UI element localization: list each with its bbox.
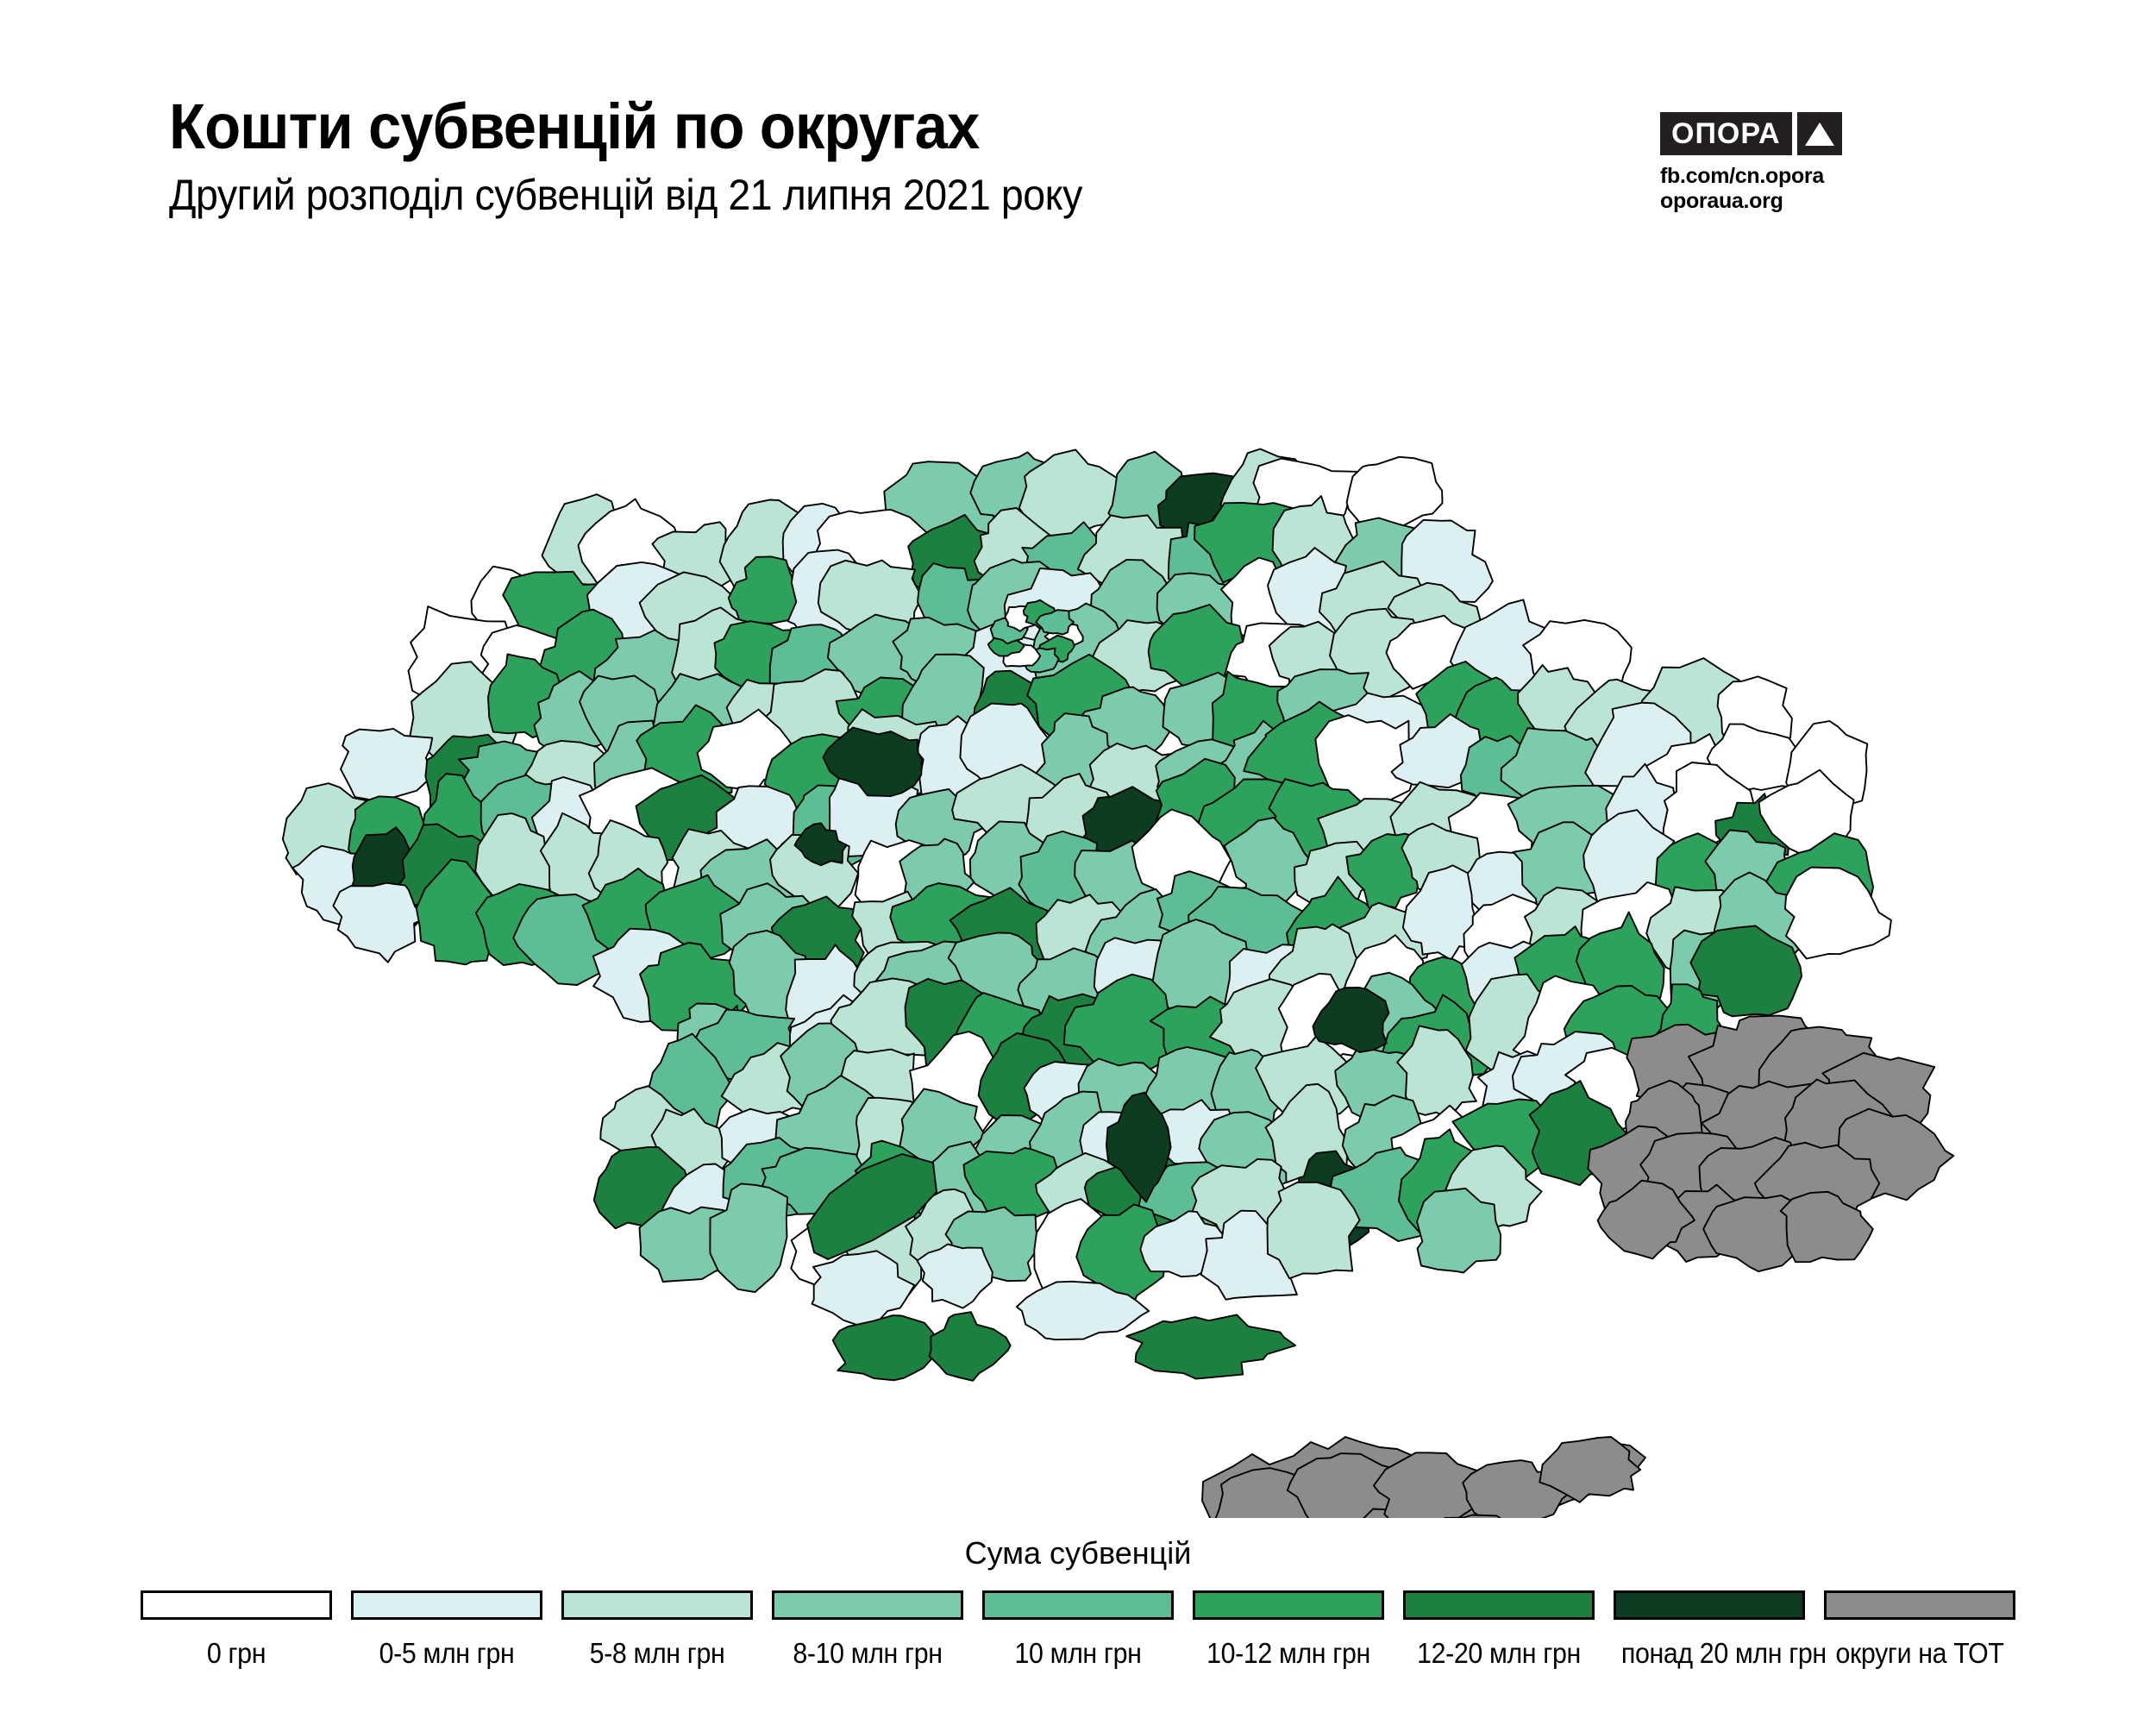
- legend-swatch: [561, 1590, 753, 1620]
- legend-label: округи на ТОТ: [1832, 1637, 2008, 1670]
- map-district[interactable]: [341, 729, 433, 800]
- legend-item: 10-12 млн грн: [1193, 1590, 1384, 1670]
- page-title: Кошти субвенцій по округах: [169, 93, 1082, 160]
- logo-links: fb.com/cn.opora oporaua.org: [1660, 164, 1919, 214]
- map-container[interactable]: [0, 241, 2156, 1518]
- logo-row: ОПОРА: [1660, 112, 1919, 155]
- legend-item: 12-20 млн грн: [1403, 1590, 1595, 1670]
- legend-swatch: [1824, 1590, 2015, 1620]
- triangle-up-icon: [1805, 122, 1834, 146]
- legend-item: округи на ТОТ: [1824, 1590, 2015, 1670]
- legend-label: 5-8 млн грн: [569, 1637, 745, 1670]
- legend-item: понад 20 млн грн: [1614, 1590, 1805, 1670]
- legend-swatch: [772, 1590, 963, 1620]
- map-district-odesa[interactable]: [930, 1312, 1011, 1381]
- legend-items: 0 грн0-5 млн грн5-8 млн грн8-10 млн грн1…: [0, 1590, 2156, 1670]
- legend-swatch: [1614, 1590, 1805, 1620]
- opora-logo[interactable]: ОПОРА fb.com/cn.opora oporaua.org: [1660, 112, 1919, 214]
- map-district[interactable]: [1347, 457, 1443, 528]
- legend-label: 0-5 млн грн: [359, 1637, 535, 1670]
- legend-item: 5-8 млн грн: [561, 1590, 753, 1670]
- facebook-link[interactable]: fb.com/cn.opora: [1660, 164, 1919, 189]
- legend-swatch: [982, 1590, 1174, 1620]
- ukraine-choropleth-map[interactable]: [0, 241, 2156, 1518]
- legend-swatch: [1193, 1590, 1384, 1620]
- legend-label: 10 млн грн: [990, 1637, 1166, 1670]
- legend-item: 0 грн: [141, 1590, 332, 1670]
- legend-label: 12-20 млн грн: [1411, 1637, 1587, 1670]
- legend-item: 0-5 млн грн: [351, 1590, 542, 1670]
- title-block: Кошти субвенцій по округах Другий розпод…: [169, 93, 1151, 219]
- map-legend: Сума субвенцій 0 грн0-5 млн грн5-8 млн г…: [0, 1535, 2156, 1670]
- legend-label: понад 20 млн грн: [1621, 1637, 1797, 1670]
- legend-item: 10 млн грн: [982, 1590, 1174, 1670]
- map-district-kherson[interactable]: [1126, 1314, 1295, 1378]
- page-header: Кошти субвенцій по округах Другий розпод…: [0, 0, 2156, 259]
- logo-triangle-box: [1797, 112, 1842, 155]
- legend-swatch: [141, 1590, 332, 1620]
- map-district[interactable]: [1785, 868, 1891, 959]
- website-link[interactable]: oporaua.org: [1660, 189, 1919, 214]
- legend-swatch: [1403, 1590, 1595, 1620]
- map-district-odesa[interactable]: [917, 1245, 992, 1308]
- map-district[interactable]: [1268, 1182, 1360, 1279]
- legend-label: 0 грн: [148, 1637, 324, 1670]
- legend-title: Сума субвенцій: [0, 1535, 2156, 1571]
- opora-wordmark: ОПОРА: [1660, 112, 1792, 155]
- legend-item: 8-10 млн грн: [772, 1590, 963, 1670]
- legend-label: 10-12 млн грн: [1200, 1637, 1376, 1670]
- district-layer[interactable]: [283, 449, 1953, 1519]
- legend-label: 8-10 млн грн: [780, 1637, 956, 1670]
- legend-swatch: [351, 1590, 542, 1620]
- page-subtitle: Другий розподіл субвенцій від 21 липня 2…: [169, 171, 1082, 219]
